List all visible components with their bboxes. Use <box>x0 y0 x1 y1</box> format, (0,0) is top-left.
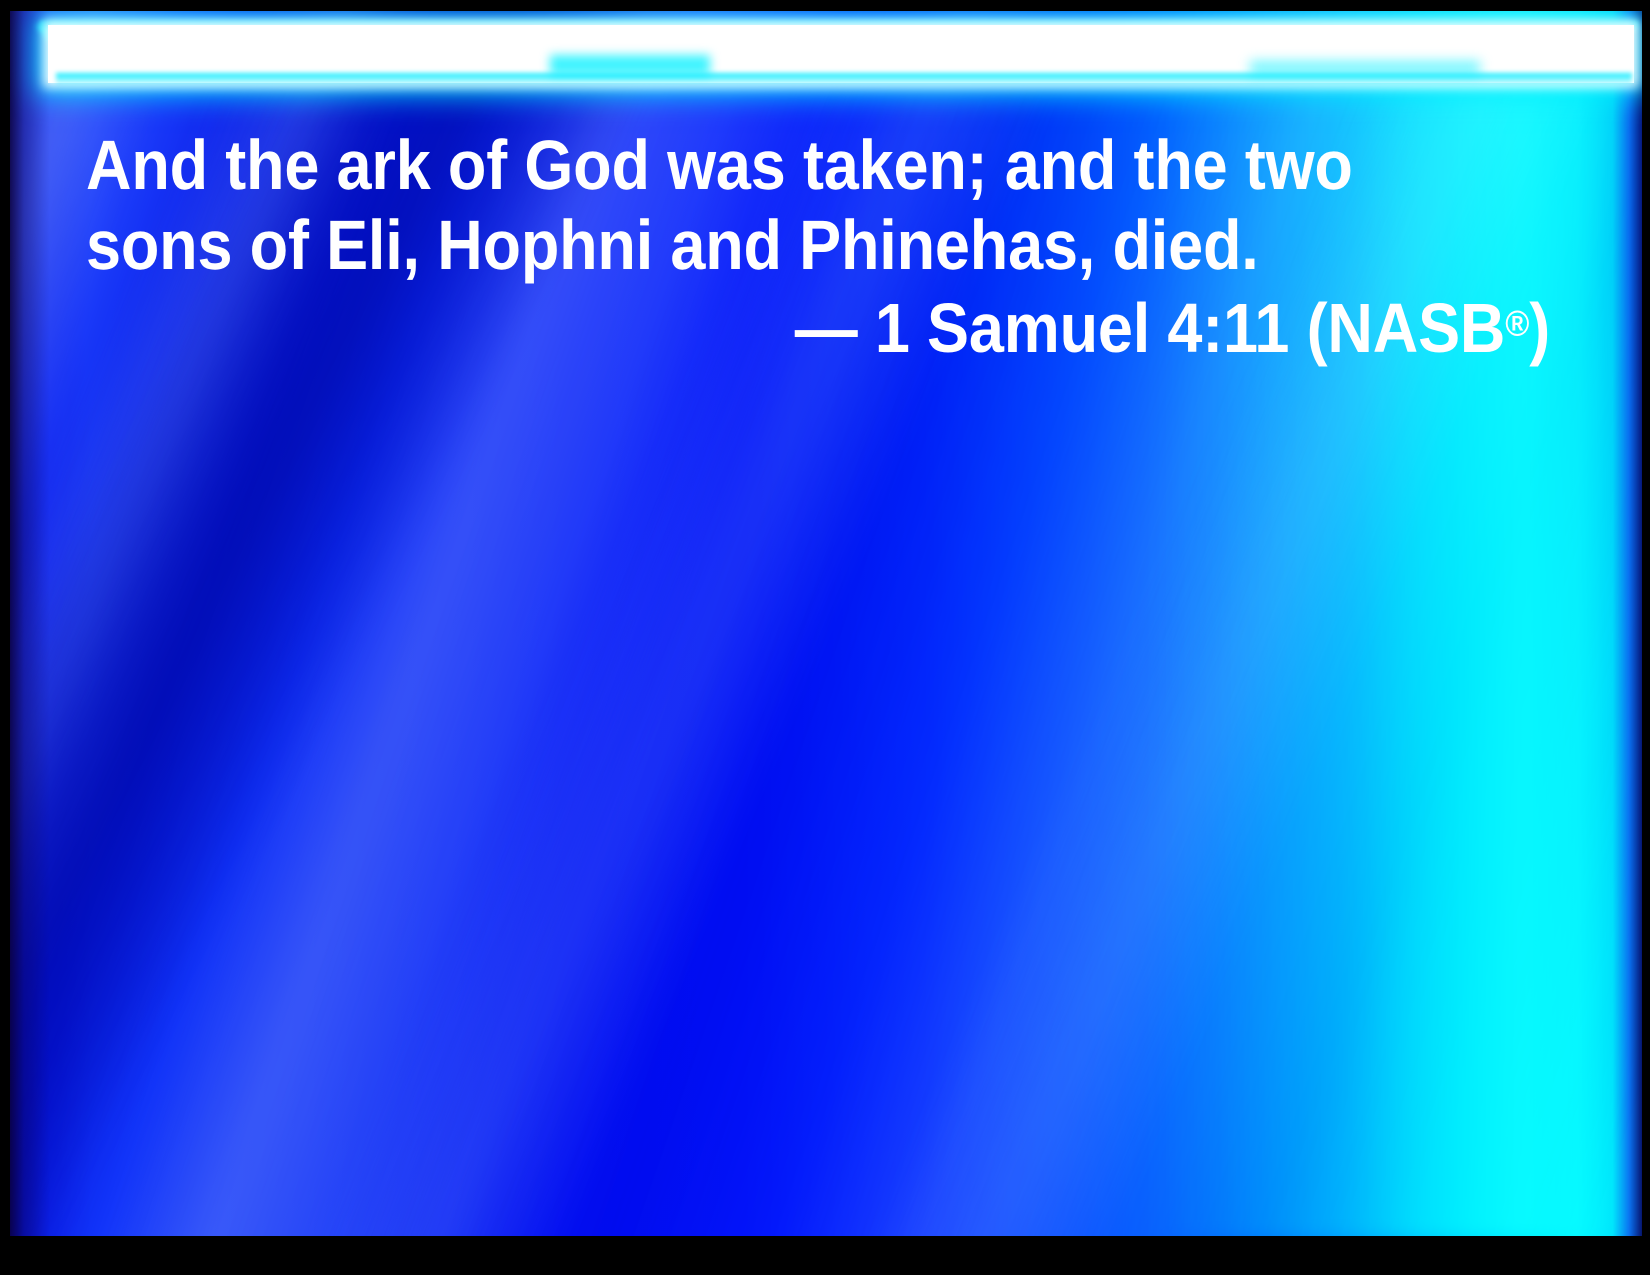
citation-reference: 1 Samuel 4:11 <box>875 289 1289 367</box>
citation-em-dash: — <box>795 289 858 367</box>
citation-translation: NASB <box>1327 289 1505 367</box>
verse-line-1: And the ark of God was taken; and the tw… <box>86 125 1404 205</box>
verse-citation: — 1 Samuel 4:11 (NASB®) <box>232 285 1550 371</box>
scripture-slide: And the ark of God was taken; and the tw… <box>0 0 1650 1275</box>
registered-trademark-icon: ® <box>1505 303 1529 344</box>
citation-close-paren: ) <box>1529 289 1550 367</box>
slide-canvas: And the ark of God was taken; and the tw… <box>10 11 1642 1236</box>
citation-open-paren: ( <box>1307 289 1328 367</box>
verse-line-2: sons of Eli, Hophni and Phinehas, died. <box>86 205 1404 285</box>
verse-text-block: And the ark of God was taken; and the tw… <box>86 125 1550 371</box>
